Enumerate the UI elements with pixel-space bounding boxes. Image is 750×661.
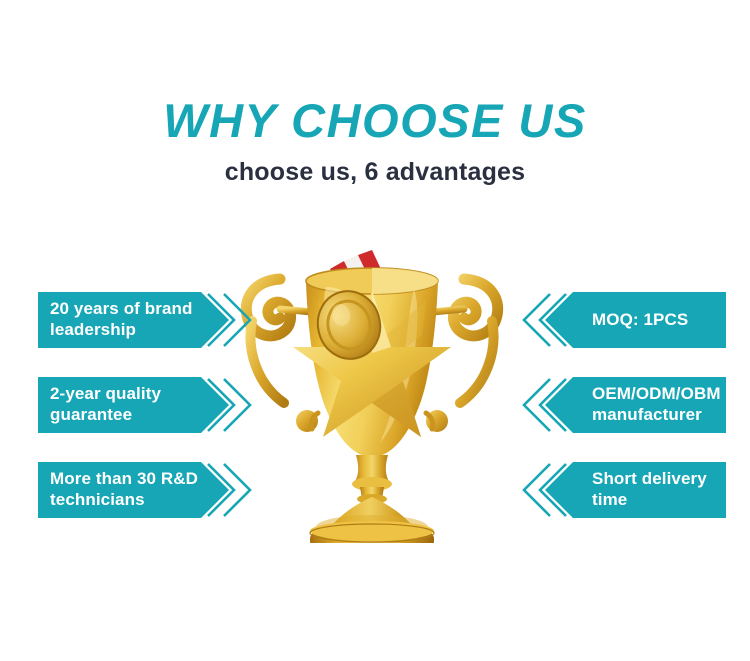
advantage-banner-right-3[interactable]: Short delivery time: [516, 462, 726, 518]
advantage-banner-left-2[interactable]: 2-year quality guarantee: [38, 377, 258, 433]
advantage-label: More than 30 R&D technicians: [50, 462, 198, 518]
advantage-label: OEM/ODM/OBM manufacturer: [592, 377, 721, 433]
trophy-stem: [352, 455, 392, 504]
advantage-label: Short delivery time: [592, 462, 726, 518]
advantage-label: 2-year quality guarantee: [50, 377, 161, 433]
advantage-label: MOQ: 1PCS: [592, 292, 688, 348]
why-choose-us-poster: WHY CHOOSE US choose us, 6 advantages: [0, 0, 750, 661]
trophy-illustration: [222, 243, 522, 543]
advantage-label: 20 years of brand leadership: [50, 292, 192, 348]
trophy-cup-bowl: [293, 268, 451, 457]
trophy-icon: [222, 243, 522, 543]
trophy-base: [310, 497, 434, 543]
advantage-banner-right-2[interactable]: OEM/ODM/OBM manufacturer: [516, 377, 726, 433]
advantage-banner-left-3[interactable]: More than 30 R&D technicians: [38, 462, 258, 518]
advantage-banner-right-1[interactable]: MOQ: 1PCS: [516, 292, 726, 348]
page-title: WHY CHOOSE US: [0, 96, 750, 145]
advantage-banner-left-1[interactable]: 20 years of brand leadership: [38, 292, 258, 348]
page-subtitle: choose us, 6 advantages: [0, 158, 750, 187]
header-block: WHY CHOOSE US choose us, 6 advantages: [0, 96, 750, 187]
